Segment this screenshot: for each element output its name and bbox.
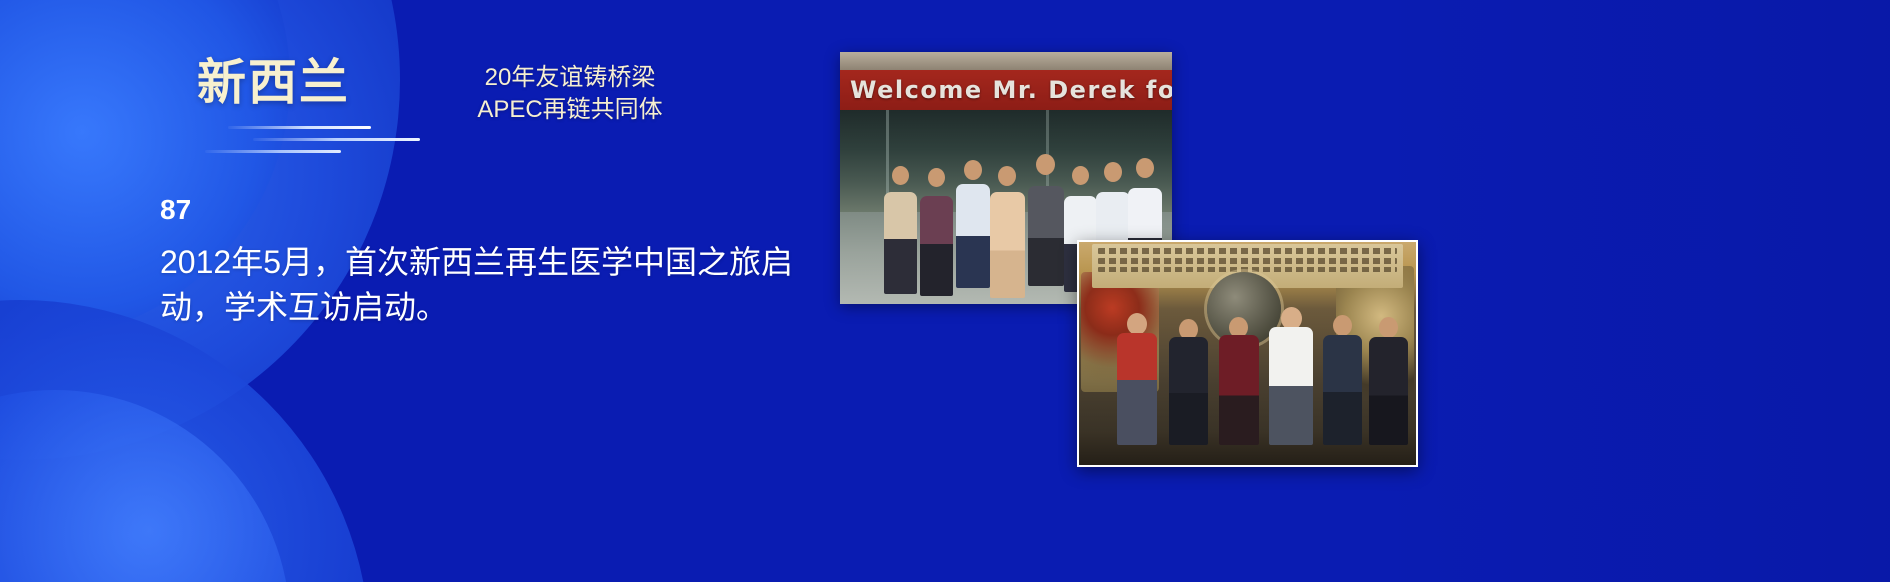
body-paragraph: 2012年5月，首次新西兰再生医学中国之旅启动，学术互访启动。	[160, 240, 800, 331]
subtitle-line-1: 20年友谊铸桥梁	[400, 62, 740, 94]
decorative-blob-bottom-arc	[0, 390, 290, 582]
title-underline-1	[228, 126, 371, 129]
photo-exhibition-hall-group	[1077, 240, 1418, 467]
slide-title: 新西兰	[197, 58, 350, 109]
title-underline-3	[205, 150, 341, 153]
slide-subtitle: 20年友谊铸桥梁 APEC再链共同体	[400, 62, 740, 125]
subtitle-line-2: APEC再链共同体	[400, 94, 740, 126]
photo1-ceiling	[840, 52, 1172, 70]
slide-canvas: 新西兰 20年友谊铸桥梁 APEC再链共同体 87 2012年5月，首次新西兰再…	[0, 0, 1890, 582]
decorative-blob-bottom	[0, 300, 370, 582]
title-underline-group	[205, 126, 435, 160]
right-edge-gradient	[1370, 0, 1890, 582]
photo1-banner-text: Welcome Mr. Derek for GMP In	[840, 76, 1172, 104]
sequence-number: 87	[160, 196, 191, 224]
photo1-welcome-banner: Welcome Mr. Derek for GMP In	[840, 70, 1172, 110]
photo2-people-group	[1079, 295, 1416, 445]
title-underline-2	[253, 138, 420, 141]
